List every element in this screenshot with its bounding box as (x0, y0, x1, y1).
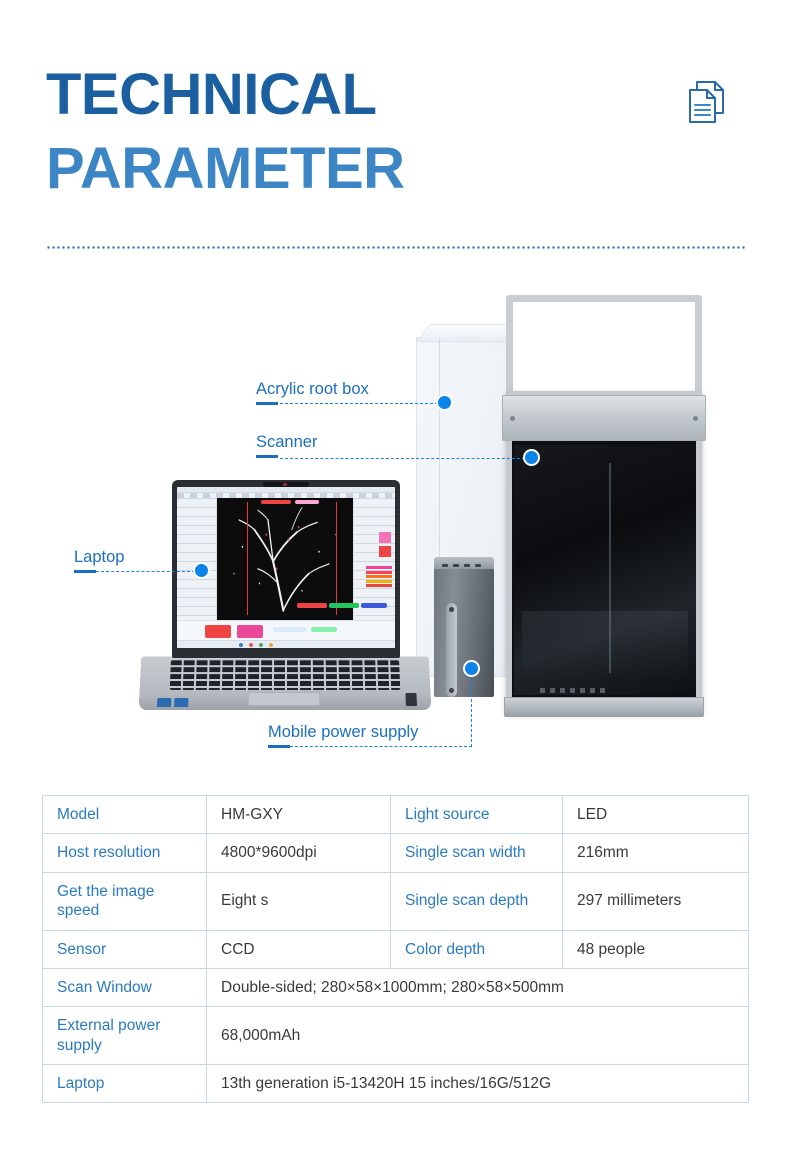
callout-leader-line (96, 571, 200, 572)
tab-highlight-red[interactable] (261, 500, 291, 504)
callout-dot-scanner[interactable] (525, 451, 538, 464)
laptop (140, 480, 430, 710)
spec-value: 68,000mAh (207, 1007, 749, 1065)
spec-label: Single scan width (391, 834, 563, 872)
spec-value: CCD (207, 930, 391, 968)
scanner (500, 295, 710, 713)
status-chip-blue (361, 603, 387, 608)
swatch-pink-icon (379, 532, 391, 543)
table-row: Get the image speed Eight s Single scan … (43, 872, 749, 930)
port-icon (442, 564, 448, 567)
laptop-screen (177, 487, 395, 648)
laptop-gpu-badge (174, 698, 188, 707)
spec-label: Scan Window (43, 968, 207, 1006)
legend-yellow-icon (366, 580, 392, 583)
action-button-red[interactable] (205, 625, 231, 638)
software-left-panel (177, 498, 217, 620)
spec-label: External power supply (43, 1007, 207, 1065)
spec-label: Laptop (43, 1065, 207, 1103)
laptop-base (139, 656, 432, 710)
documents-icon (684, 78, 730, 126)
laptop-keyboard (170, 660, 401, 690)
title-line-1: TECHNICAL (46, 66, 746, 124)
spec-value: 48 people (563, 930, 749, 968)
status-chip-red (297, 603, 327, 608)
legend-red-icon (366, 584, 392, 587)
callout-underline (256, 402, 278, 405)
tab-highlight-pink[interactable] (295, 500, 319, 504)
legend-orange-icon (366, 575, 392, 578)
spec-label: Single scan depth (391, 872, 563, 930)
callout-dot-laptop[interactable] (195, 564, 208, 577)
callout-label: Mobile power supply (268, 723, 418, 741)
callout-scanner: Scanner (256, 433, 317, 458)
mobile-power-supply (434, 557, 494, 697)
spec-value: 297 millimeters (563, 872, 749, 930)
port-icon (453, 564, 459, 567)
port-icon (475, 564, 481, 567)
action-button-pink[interactable] (237, 625, 263, 638)
spec-value: HM-GXY (207, 796, 391, 834)
title-line-2: PARAMETER (46, 140, 746, 198)
taskbar-icon[interactable] (269, 643, 273, 647)
scanner-glass-panel (514, 445, 696, 695)
table-row: Laptop 13th generation i5-13420H 15 inch… (43, 1065, 749, 1103)
callout-label: Laptop (74, 548, 124, 566)
spec-value: 216mm (563, 834, 749, 872)
spec-value: 13th generation i5-13420H 15 inches/16G/… (207, 1065, 749, 1103)
power-bank-strap (446, 603, 457, 697)
spec-label: Light source (391, 796, 563, 834)
legend-rose-icon (366, 571, 392, 574)
action-button-green[interactable] (311, 627, 337, 632)
action-button-light[interactable] (273, 627, 307, 632)
power-bank-body (434, 569, 494, 697)
technical-parameter-page: TECHNICAL PARAMETER (0, 0, 790, 1151)
laptop-trackpad (248, 692, 321, 706)
spec-value: Eight s (207, 872, 391, 930)
specification-table: Model HM-GXY Light source LED Host resol… (42, 795, 749, 1103)
callout-acrylic-root-box: Acrylic root box (256, 380, 369, 405)
callout-leader-line (280, 403, 443, 404)
table-body: Model HM-GXY Light source LED Host resol… (43, 796, 749, 1103)
spec-value: LED (563, 796, 749, 834)
scanner-handle (506, 295, 702, 399)
taskbar-icon[interactable] (259, 643, 263, 647)
callout-dot-acrylic-root-box[interactable] (438, 396, 451, 409)
selection-rectangle (247, 502, 337, 615)
software-workspace (177, 498, 395, 620)
root-scan-canvas (217, 498, 353, 620)
spec-label: Get the image speed (43, 872, 207, 930)
taskbar-icon[interactable] (249, 643, 253, 647)
callout-leader-line (280, 458, 530, 459)
product-illustration: Acrylic root box Scanner Laptop Mobile p… (0, 275, 790, 775)
spec-value: Double-sided; 280×58×1000mm; 280×58×500m… (207, 968, 749, 1006)
screw-right-icon (693, 416, 698, 421)
laptop-brand-badge (405, 693, 417, 706)
spec-label: Model (43, 796, 207, 834)
swatch-red-icon (379, 546, 391, 557)
spec-label: Host resolution (43, 834, 207, 872)
table-row: External power supply 68,000mAh (43, 1007, 749, 1065)
status-chip-green (329, 603, 359, 608)
table-row: Sensor CCD Color depth 48 people (43, 930, 749, 968)
laptop-cpu-badge (157, 698, 171, 707)
scanner-vent (540, 688, 610, 693)
table-row: Model HM-GXY Light source LED (43, 796, 749, 834)
callout-label: Scanner (256, 433, 317, 451)
software-right-panel (353, 498, 395, 620)
callout-underline (256, 455, 278, 458)
table-row: Host resolution 4800*9600dpi Single scan… (43, 834, 749, 872)
page-header: TECHNICAL PARAMETER (46, 66, 746, 198)
port-icon (464, 564, 470, 567)
taskbar-icon[interactable] (239, 643, 243, 647)
software-bottom-panel (177, 620, 395, 648)
legend-magenta-icon (366, 566, 392, 569)
callout-mobile-power-supply: Mobile power supply (268, 723, 418, 748)
callout-leader-line (290, 746, 472, 747)
table-row: Scan Window Double-sided; 280×58×1000mm;… (43, 968, 749, 1006)
callout-label: Acrylic root box (256, 380, 369, 398)
callout-underline (74, 570, 96, 573)
callout-dot-mobile-power-supply[interactable] (465, 662, 478, 675)
scanner-base (504, 697, 704, 717)
page-title: TECHNICAL PARAMETER (46, 66, 746, 198)
os-taskbar (177, 640, 395, 648)
callout-underline (268, 745, 290, 748)
spec-label: Color depth (391, 930, 563, 968)
legend-color-stack (366, 566, 392, 589)
screw-left-icon (510, 416, 515, 421)
spec-value: 4800*9600dpi (207, 834, 391, 872)
callout-laptop: Laptop (74, 548, 124, 573)
callout-leader-line-vertical (471, 669, 472, 747)
header-divider (46, 246, 746, 249)
scanner-top-bar (502, 395, 706, 441)
spec-label: Sensor (43, 930, 207, 968)
